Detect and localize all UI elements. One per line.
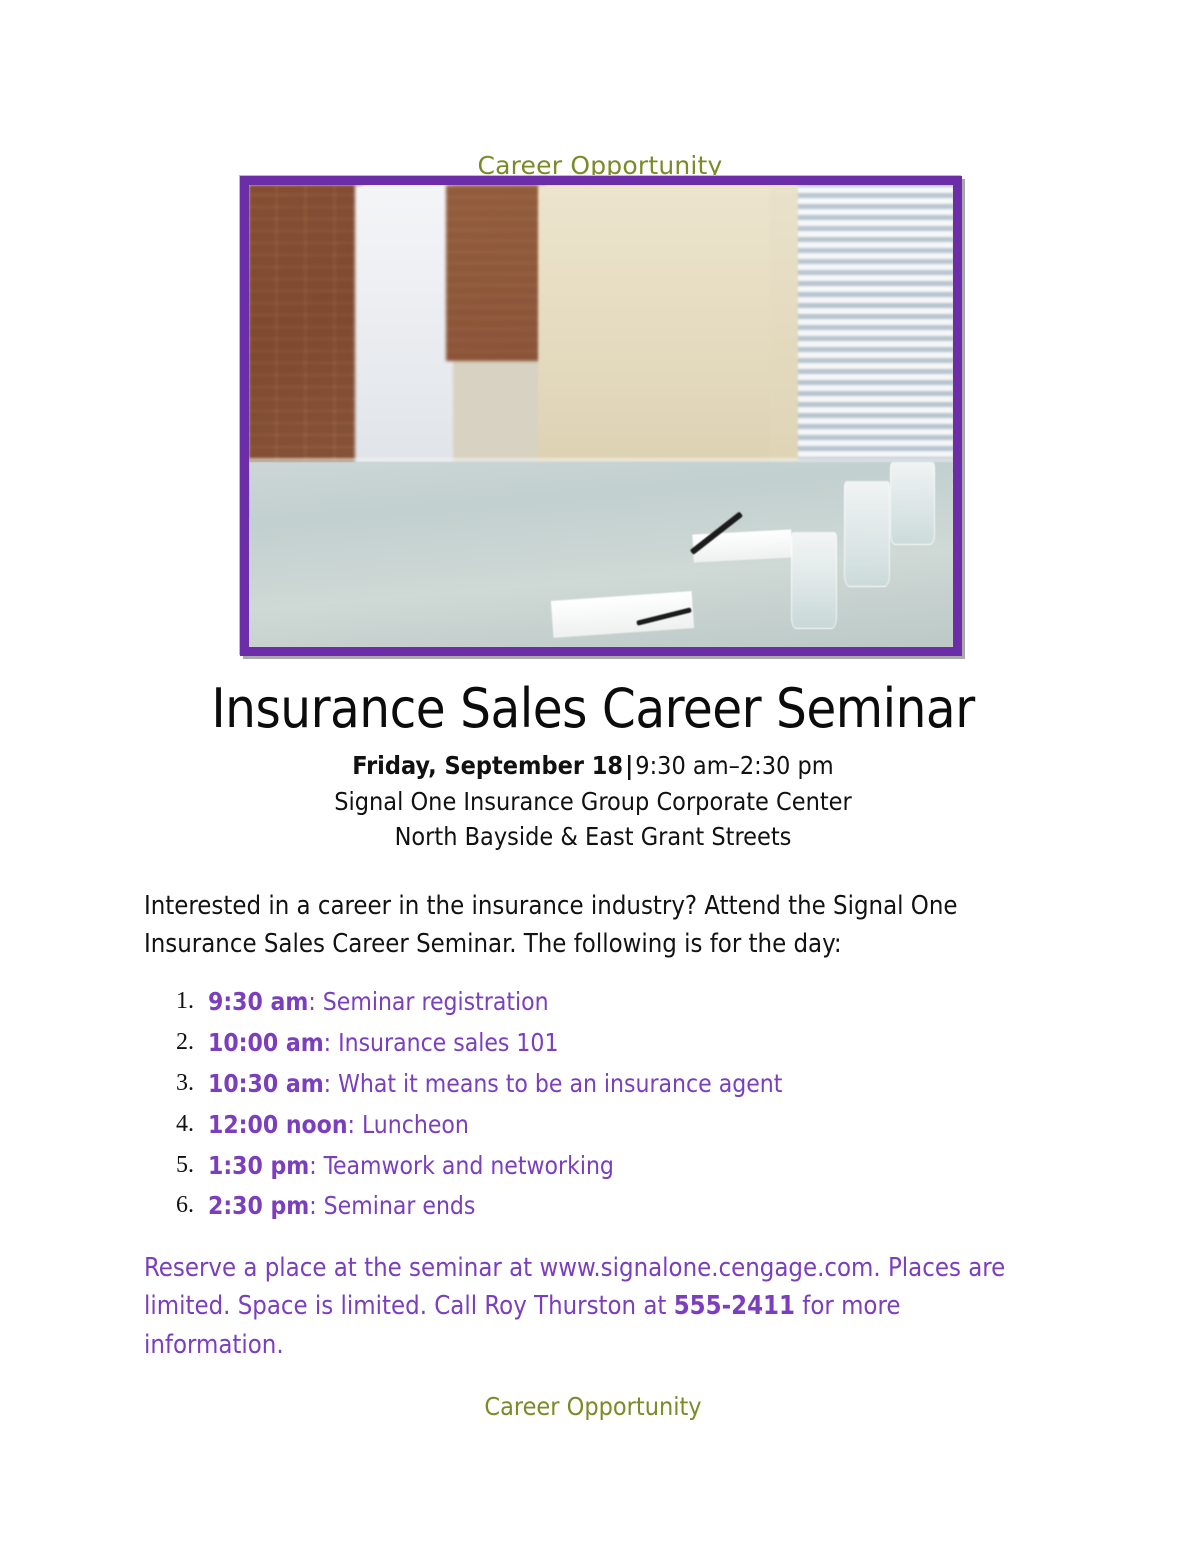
agenda-item-time: 1:30 pm [208, 1151, 309, 1180]
agenda-item-time: 10:30 am [208, 1069, 324, 1098]
agenda-item-colon: : [308, 987, 315, 1016]
seminar-photo-frame [240, 176, 962, 656]
agenda-item-activity: What it means to be an insurance agent [331, 1069, 782, 1098]
contact-phone-number: 555-2411 [674, 1291, 795, 1321]
agenda-item-time: 9:30 am [208, 987, 308, 1016]
agenda-item-activity: Insurance sales 101 [331, 1028, 558, 1057]
subhead-separator: | [623, 751, 635, 780]
flyer-page: Career Opportunity [0, 0, 1200, 1553]
seminar-photo [249, 185, 953, 647]
agenda-item-activity: Luncheon [355, 1110, 469, 1139]
subhead-date: Friday, September 18 [352, 751, 623, 780]
flyer-title: Insurance Sales Career Seminar [144, 680, 1042, 738]
agenda-item-colon: : [324, 1069, 331, 1098]
agenda-list: 9:30 am: Seminar registration 10:00 am: … [144, 985, 1042, 1223]
agenda-item: 12:00 noon: Luncheon [176, 1108, 1042, 1142]
photo-water-glass-2 [844, 481, 890, 587]
footer-tagline: Career Opportunity [144, 1392, 1042, 1422]
photo-water-glass-1 [791, 532, 837, 629]
agenda-item: 9:30 am: Seminar registration [176, 985, 1042, 1019]
agenda-item: 1:30 pm: Teamwork and networking [176, 1149, 1042, 1183]
photo-brick-wall-2 [446, 185, 545, 361]
agenda-item-activity: Seminar ends [317, 1191, 476, 1220]
agenda-item-colon: : [324, 1028, 331, 1057]
closing-paragraph: Reserve a place at the seminar at www.si… [144, 1249, 1042, 1364]
agenda-item-activity: Seminar registration [316, 987, 549, 1016]
agenda-item-colon: : [309, 1151, 316, 1180]
agenda-item-time: 12:00 noon [208, 1110, 348, 1139]
intro-paragraph: Interested in a career in the insurance … [144, 887, 1042, 964]
agenda-item: 10:00 am: Insurance sales 101 [176, 1026, 1042, 1060]
subhead-address: North Bayside & East Grant Streets [144, 819, 1042, 855]
subhead-datetime: Friday, September 18|9:30 am–2:30 pm [144, 748, 1042, 784]
agenda-item-colon: : [309, 1191, 316, 1220]
photo-water-glass-3 [890, 462, 936, 545]
subhead-time-range: 9:30 am–2:30 pm [635, 751, 833, 780]
agenda-item-activity: Teamwork and networking [317, 1151, 614, 1180]
flyer-content: Insurance Sales Career Seminar Friday, S… [144, 680, 1042, 1422]
subhead-venue: Signal One Insurance Group Corporate Cen… [144, 784, 1042, 820]
agenda-item-time: 10:00 am [208, 1028, 324, 1057]
agenda-item: 2:30 pm: Seminar ends [176, 1189, 1042, 1223]
agenda-item-time: 2:30 pm [208, 1191, 309, 1220]
photo-paper-2 [692, 529, 792, 562]
photo-window-blinds [798, 185, 953, 490]
agenda-item: 10:30 am: What it means to be an insuran… [176, 1067, 1042, 1101]
agenda-item-colon: : [348, 1110, 355, 1139]
